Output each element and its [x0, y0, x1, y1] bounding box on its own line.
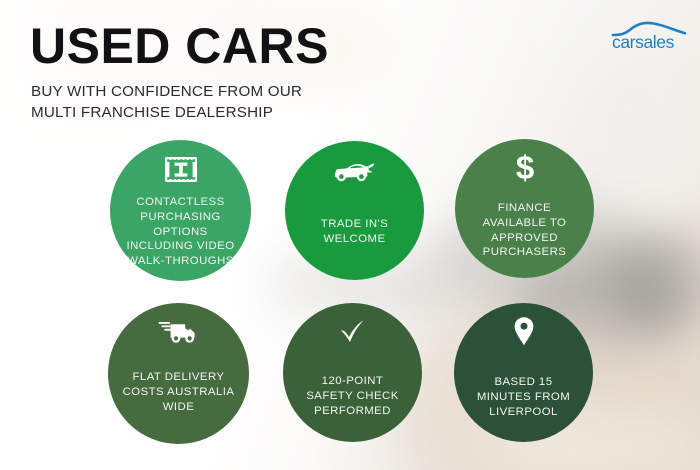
page-title: USED CARS — [30, 20, 329, 73]
page-subtitle-line-1: BUY WITH CONFIDENCE FROM OUR — [31, 82, 302, 103]
feature-line: COSTS AUSTRALIA — [123, 385, 235, 400]
feature-label-finance-available: FINANCE AVAILABLE TO APPROVED PURCHASERS — [483, 201, 567, 260]
feature-line: LIVERPOOL — [477, 405, 570, 420]
feature-line: CONTACTLESS — [126, 195, 234, 210]
feature-line: FLAT DELIVERY — [123, 370, 235, 385]
feature-line: PERFORMED — [306, 404, 399, 419]
page-subtitle-line-2: MULTI FRANCHISE DEALERSHIP — [31, 103, 302, 124]
feature-label-trade-ins-welcome: TRADE IN'S WELCOME — [321, 217, 388, 247]
sports-car-icon — [334, 161, 376, 183]
map-pin-icon — [512, 316, 536, 347]
feature-line: SAFETY CHECK — [306, 389, 399, 404]
feature-circle-finance-available[interactable]: $ FINANCE AVAILABLE TO APPROVED PURCHASE… — [455, 139, 594, 278]
promo-banner: USED CARS BUY WITH CONFIDENCE FROM OUR M… — [0, 0, 700, 470]
feature-line: APPROVED — [483, 231, 567, 246]
feature-line: 120-POINT — [306, 374, 399, 389]
page-subtitle: BUY WITH CONFIDENCE FROM OUR MULTI FRANC… — [31, 82, 302, 124]
feature-line: WALK-THROUGHS — [126, 254, 234, 269]
feature-line: PURCHASING — [126, 210, 234, 225]
feature-line: PURCHASERS — [483, 245, 567, 260]
feature-circle-trade-ins-welcome[interactable]: TRADE IN'S WELCOME — [285, 141, 424, 280]
feature-line: TRADE IN'S — [321, 217, 388, 232]
delivery-van-icon — [158, 319, 200, 345]
dollar-sign-icon: $ — [512, 151, 538, 185]
feature-circle-safety-check[interactable]: 120-POINT SAFETY CHECK PERFORMED — [283, 303, 422, 442]
feature-label-safety-check: 120-POINT SAFETY CHECK PERFORMED — [306, 374, 399, 418]
feature-circle-flat-delivery-costs[interactable]: FLAT DELIVERY COSTS AUSTRALIA WIDE — [108, 303, 249, 444]
svg-text:$: $ — [515, 151, 533, 185]
feature-line: BASED 15 — [477, 375, 570, 390]
feature-line: WIDE — [123, 400, 235, 415]
feature-line: INCLUDING VIDEO — [126, 239, 234, 254]
feature-label-contactless-purchasing: CONTACTLESS PURCHASING OPTIONS INCLUDING… — [126, 195, 234, 269]
feature-line: FINANCE — [483, 201, 567, 216]
feature-circle-based-near-liverpool[interactable]: BASED 15 MINUTES FROM LIVERPOOL — [454, 303, 593, 442]
feature-line: AVAILABLE TO — [483, 216, 567, 231]
feature-line: WELCOME — [321, 232, 388, 247]
feature-line: OPTIONS — [126, 225, 234, 240]
feature-label-flat-delivery-costs: FLAT DELIVERY COSTS AUSTRALIA WIDE — [123, 370, 235, 414]
feature-line: MINUTES FROM — [477, 390, 570, 405]
checkmark-icon — [338, 317, 368, 347]
carsales-wordmark: carsales — [612, 32, 675, 52]
feature-label-based-near-liverpool: BASED 15 MINUTES FROM LIVERPOOL — [477, 375, 570, 419]
feature-circle-contactless-purchasing[interactable]: CONTACTLESS PURCHASING OPTIONS INCLUDING… — [110, 140, 251, 281]
carsales-logo[interactable]: carsales — [611, 20, 689, 52]
film-strip-icon — [163, 155, 199, 184]
